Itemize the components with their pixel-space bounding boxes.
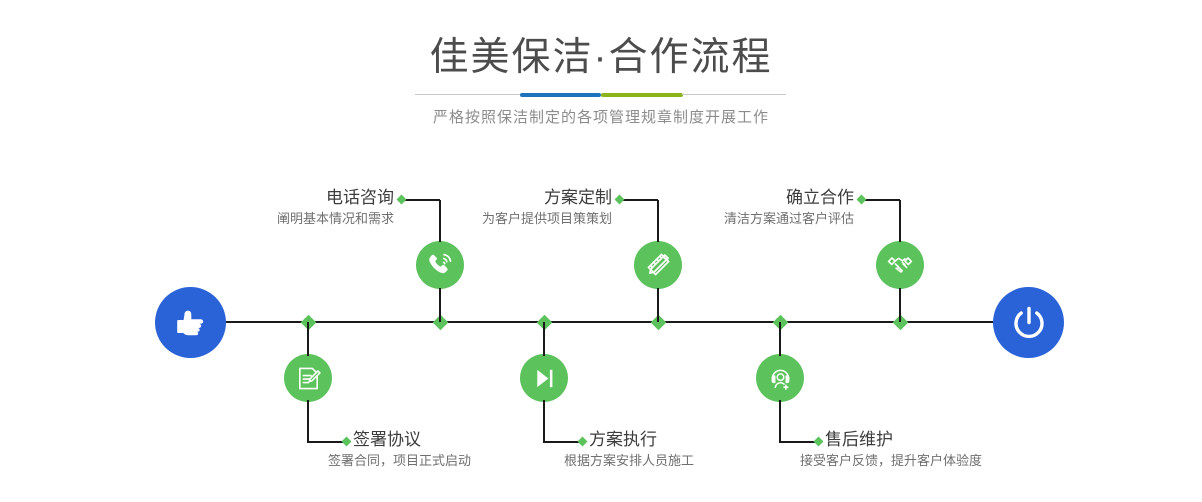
label-step-5-subtitle: 清洁方案通过客户评估 <box>642 209 854 229</box>
connector-step-5-lower <box>899 288 901 322</box>
label-step-5-title: 确立合作 <box>642 187 854 209</box>
label-step-3: 方案定制 为客户提供项目策策划 <box>400 187 612 229</box>
label-step-6-title: 售后维护 <box>825 429 1085 451</box>
leader-tip-step-2 <box>342 437 352 447</box>
page-subtitle: 严格按照保洁制定的各项管理规章制度开展工作 <box>0 107 1202 129</box>
label-step-4: 方案执行 根据方案安排人员施工 <box>589 429 829 471</box>
node-step-6[interactable] <box>756 354 804 402</box>
handshake-icon <box>886 251 914 279</box>
label-step-6: 售后维护 接受客户反馈，提升客户体验度 <box>825 429 1085 471</box>
connector-step-4-lower <box>543 400 545 442</box>
label-step-4-subtitle: 根据方案安排人员施工 <box>564 451 829 471</box>
play-execute-icon <box>531 365 558 392</box>
node-step-3[interactable] <box>634 241 682 289</box>
connector-step-2-upper <box>307 322 309 356</box>
title-divider <box>415 93 786 97</box>
divider-line-left <box>415 94 521 95</box>
page-title: 佳美保洁·合作流程 <box>0 36 1202 80</box>
leader-step-6 <box>779 441 817 443</box>
label-step-2-subtitle: 签署合同，项目正式启动 <box>328 451 593 471</box>
connector-step-4-upper <box>543 322 545 356</box>
leader-step-4 <box>543 441 581 443</box>
support-headset-icon <box>767 365 794 392</box>
node-step-1[interactable] <box>416 241 464 289</box>
connector-step-2-lower <box>307 400 309 442</box>
end-node[interactable] <box>993 287 1064 358</box>
divider-segment-green <box>601 93 683 97</box>
sign-document-icon <box>295 365 322 392</box>
label-step-1: 电话咨询 阐明基本情况和需求 <box>180 187 394 229</box>
leader-step-2 <box>307 441 345 443</box>
power-icon <box>1008 302 1050 344</box>
label-step-5: 确立合作 清洁方案通过客户评估 <box>642 187 854 229</box>
label-step-4-title: 方案执行 <box>589 429 829 451</box>
leader-step-5 <box>862 199 900 201</box>
label-step-1-subtitle: 阐明基本情况和需求 <box>180 209 394 229</box>
phone-call-icon <box>426 251 454 279</box>
label-step-3-title: 方案定制 <box>400 187 612 209</box>
cooperation-process-infographic: 佳美保洁·合作流程 严格按照保洁制定的各项管理规章制度开展工作 <box>0 0 1202 502</box>
connector-step-6-lower <box>779 400 781 442</box>
label-step-2-title: 签署协议 <box>353 429 593 451</box>
node-step-5[interactable] <box>876 241 924 289</box>
label-step-3-subtitle: 为客户提供项目策策划 <box>400 209 612 229</box>
label-step-6-subtitle: 接受客户反馈，提升客户体验度 <box>800 451 1085 471</box>
connector-step-5-upper <box>899 200 901 242</box>
connector-step-6-upper <box>779 322 781 356</box>
node-step-2[interactable] <box>284 354 332 402</box>
node-step-4[interactable] <box>520 354 568 402</box>
label-step-1-title: 电话咨询 <box>180 187 394 209</box>
connector-step-3-lower <box>657 288 659 322</box>
connector-step-1-lower <box>439 288 441 322</box>
leader-tip-step-5 <box>857 195 867 205</box>
timeline-axis <box>225 321 1005 323</box>
divider-segment-blue <box>520 93 601 97</box>
leader-tip-step-3 <box>615 195 625 205</box>
divider-line-right <box>682 94 786 95</box>
pencil-ruler-icon <box>644 251 672 279</box>
pointing-hand-icon <box>171 303 211 343</box>
label-step-2: 签署协议 签署合同，项目正式启动 <box>353 429 593 471</box>
start-node[interactable] <box>155 287 226 358</box>
